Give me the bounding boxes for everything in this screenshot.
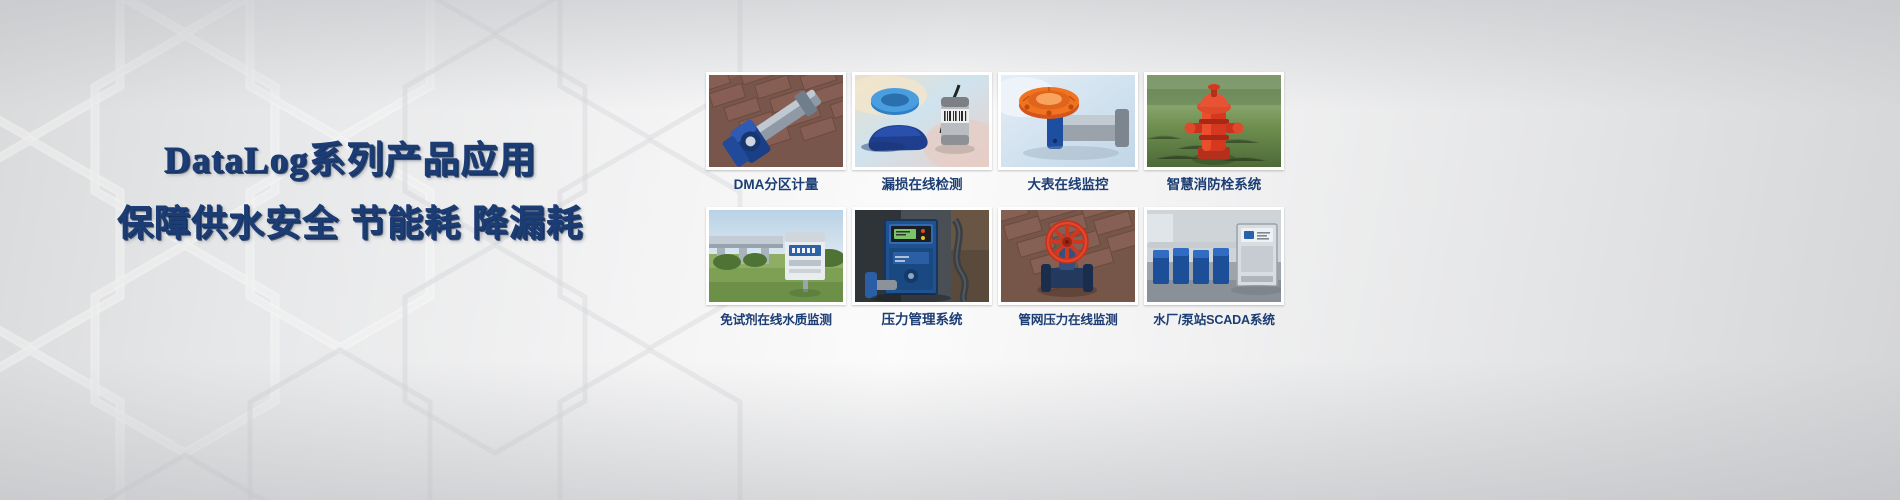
product-thumbnail xyxy=(1144,72,1284,170)
pressure-control-cabinet-photo xyxy=(855,210,989,302)
headline-block: DataLog系列产品应用 保障供水安全 节能耗 降漏耗 xyxy=(0,138,700,245)
product-card[interactable]: 压力管理系统 xyxy=(852,207,992,328)
hexagon-watermark-pattern xyxy=(0,0,760,500)
product-card[interactable]: 智慧消防栓系统 xyxy=(1144,72,1284,193)
headline-line-1-latin: DataLog xyxy=(164,140,309,181)
product-thumbnail xyxy=(706,72,846,170)
product-caption: 压力管理系统 xyxy=(852,312,992,328)
product-thumbnail xyxy=(852,72,992,170)
product-thumbnail xyxy=(998,207,1138,305)
product-card[interactable]: 管网压力在线监测 xyxy=(998,207,1138,328)
product-caption: 漏损在线检测 xyxy=(852,177,992,193)
product-caption: 大表在线监控 xyxy=(998,177,1138,193)
headline-line-1-chinese: 系列产品应用 xyxy=(308,139,536,180)
headline-line-2: 保障供水安全 节能耗 降漏耗 xyxy=(0,201,700,245)
pump-station-scada-room-photo xyxy=(1147,210,1281,302)
blue-valve-on-brick-photo xyxy=(709,75,843,167)
product-card[interactable]: 水厂/泵站SCADA系统 xyxy=(1144,207,1284,328)
product-caption: 智慧消防栓系统 xyxy=(1144,177,1284,193)
product-thumbnail xyxy=(1144,207,1284,305)
product-caption: 管网压力在线监测 xyxy=(998,312,1138,328)
product-card[interactable]: DMA分区计量 xyxy=(706,72,846,193)
product-caption: 水厂/泵站SCADA系统 xyxy=(1144,312,1284,328)
product-card[interactable]: 免试剂在线水质监测 xyxy=(706,207,846,328)
water-quality-monitoring-station-photo xyxy=(709,210,843,302)
product-thumbnail xyxy=(852,207,992,305)
product-caption: 免试剂在线水质监测 xyxy=(706,312,846,328)
leak-detection-sensor-photo xyxy=(855,75,989,167)
product-thumbnail xyxy=(998,72,1138,170)
red-fire-hydrant-on-grass-photo xyxy=(1147,75,1281,167)
product-card[interactable]: 漏损在线检测 xyxy=(852,72,992,193)
orange-large-water-meter-photo xyxy=(1001,75,1135,167)
product-application-banner: DataLog系列产品应用 保障供水安全 节能耗 降漏耗 xyxy=(0,0,1900,500)
product-thumbnail xyxy=(706,207,846,305)
product-card-grid: DMA分区计量 xyxy=(706,72,1284,328)
headline-line-1: DataLog系列产品应用 xyxy=(0,138,700,183)
product-card[interactable]: 大表在线监控 xyxy=(998,72,1138,193)
red-handwheel-valve-on-brick-photo xyxy=(1001,210,1135,302)
product-caption: DMA分区计量 xyxy=(706,177,846,193)
